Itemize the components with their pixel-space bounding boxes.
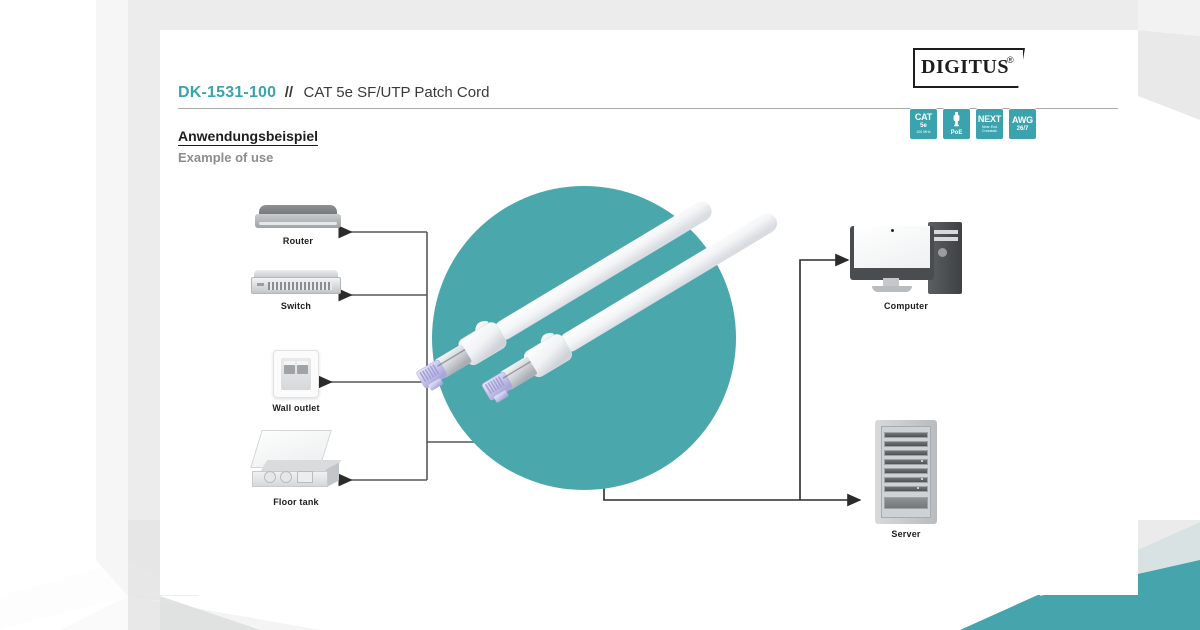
awg-badge: AWG 26/7 bbox=[1008, 108, 1037, 140]
registered-trademark-icon: ® bbox=[1007, 55, 1014, 65]
application-diagram: Router Switch Wall outlet bbox=[160, 160, 1138, 595]
computer-label: Computer bbox=[846, 301, 966, 311]
floor-tank-icon bbox=[250, 430, 342, 492]
cat5e-badge-line1: CAT bbox=[915, 113, 932, 122]
computer-icon bbox=[850, 222, 962, 296]
feature-badges: CAT 5e 100 MHz PoE NEXT Near End Crossta bbox=[909, 108, 1037, 140]
wall-outlet-icon bbox=[273, 350, 319, 398]
poe-plug-icon bbox=[951, 112, 962, 129]
product-datasheet-slide: DIGITUS ® DK-1531-100 // CAT 5e SF/UTP P… bbox=[0, 0, 1200, 630]
floor-tank-label: Floor tank bbox=[238, 497, 354, 507]
patch-cord-photo bbox=[414, 168, 754, 508]
node-server[interactable]: Server bbox=[870, 420, 942, 539]
server-icon bbox=[875, 420, 937, 524]
product-title-row: DK-1531-100 // CAT 5e SF/UTP Patch Cord bbox=[178, 84, 1118, 102]
digitus-logo: DIGITUS ® bbox=[913, 48, 1025, 88]
next-badge-line3: Near End Crosstalk bbox=[976, 125, 1003, 134]
switch-icon bbox=[251, 270, 341, 296]
title-separator: // bbox=[285, 84, 293, 101]
product-sku: DK-1531-100 bbox=[178, 84, 276, 101]
node-router[interactable]: Router bbox=[248, 205, 348, 246]
server-label: Server bbox=[870, 529, 942, 539]
poe-badge: PoE bbox=[942, 108, 971, 140]
router-icon bbox=[255, 205, 341, 231]
logo-wordmark: DIGITUS bbox=[921, 56, 1009, 79]
router-label: Router bbox=[248, 236, 348, 246]
node-switch[interactable]: Switch bbox=[246, 270, 346, 311]
next-badge-line1: NEXT bbox=[978, 115, 1001, 124]
node-floor-tank[interactable]: Floor tank bbox=[238, 430, 354, 507]
cat5e-badge-line3: 100 MHz bbox=[916, 130, 930, 134]
product-name: CAT 5e SF/UTP Patch Cord bbox=[304, 84, 490, 101]
node-computer[interactable]: Computer bbox=[846, 222, 966, 311]
awg-badge-line2: 26/7 bbox=[1017, 126, 1029, 132]
next-badge: NEXT Near End Crosstalk bbox=[975, 108, 1004, 140]
cat5e-badge-line2: 5e bbox=[920, 123, 927, 129]
wall-outlet-label: Wall outlet bbox=[246, 403, 346, 413]
cat5e-badge: CAT 5e 100 MHz bbox=[909, 108, 938, 140]
content-card: DIGITUS ® DK-1531-100 // CAT 5e SF/UTP P… bbox=[160, 30, 1138, 595]
switch-label: Switch bbox=[246, 301, 346, 311]
section-title-de: Anwendungsbeispiel bbox=[178, 128, 318, 146]
node-wall-outlet[interactable]: Wall outlet bbox=[246, 350, 346, 413]
awg-badge-line1: AWG bbox=[1012, 116, 1033, 125]
poe-badge-label: PoE bbox=[951, 130, 963, 136]
